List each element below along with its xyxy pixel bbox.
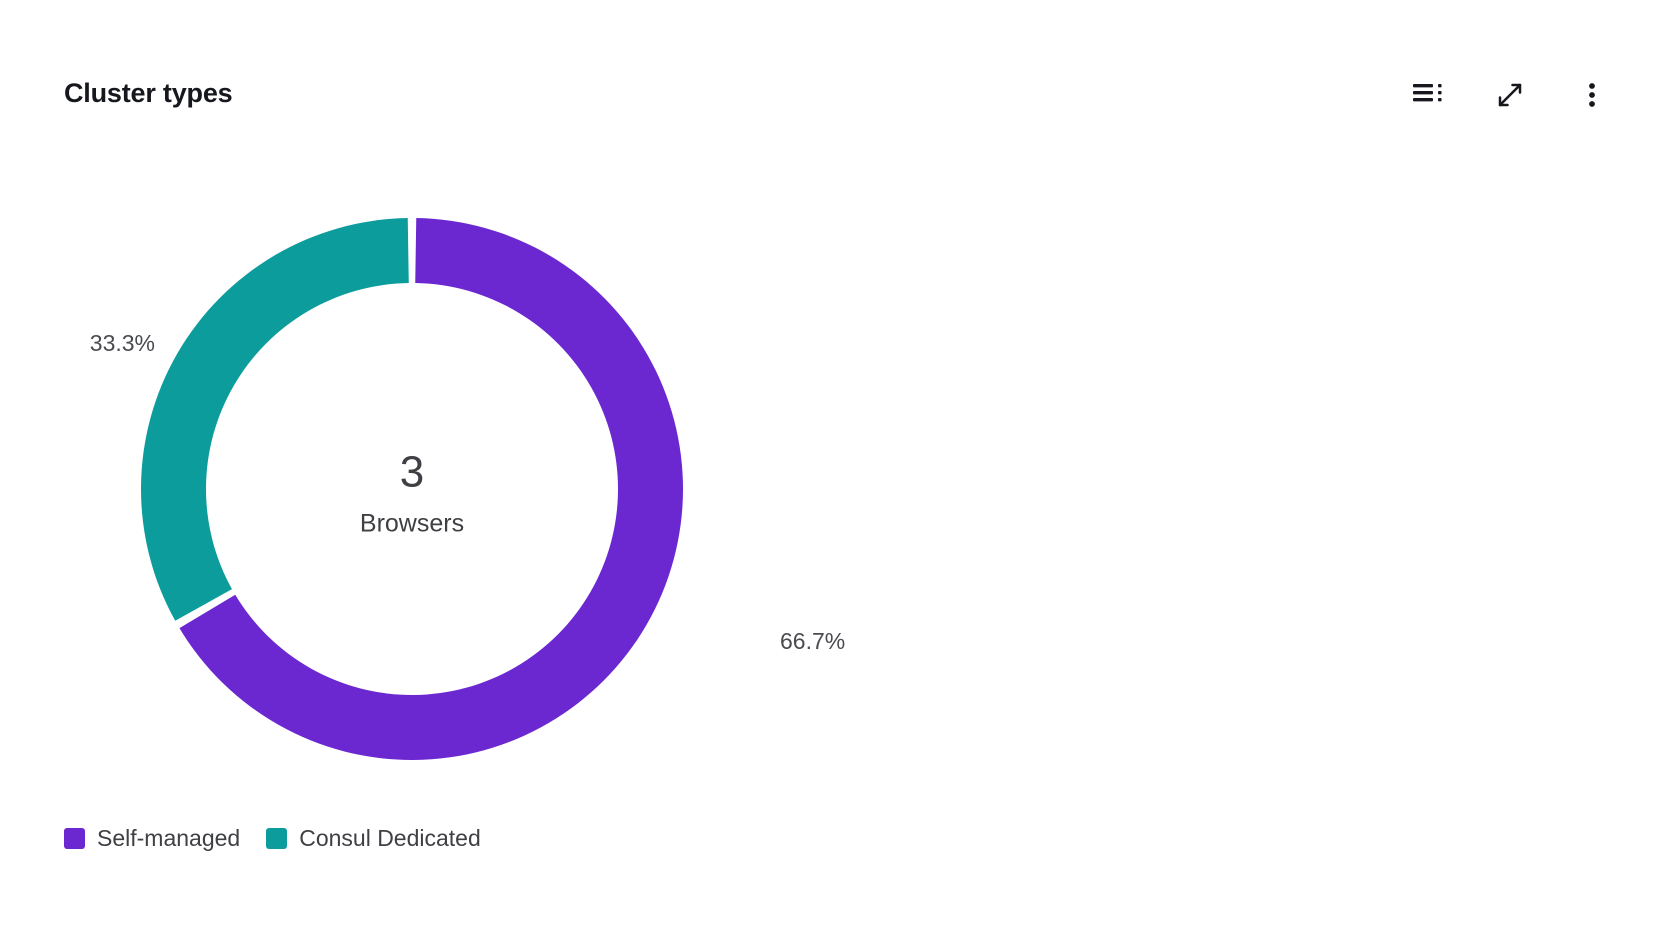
header-actions: [1406, 74, 1614, 118]
donut-percent-label-consul-dedicated: 33.3%: [90, 330, 155, 356]
chart-legend: Self-managed Consul Dedicated: [64, 827, 481, 850]
legend-item-self-managed[interactable]: Self-managed: [64, 827, 240, 850]
legend-item-consul-dedicated[interactable]: Consul Dedicated: [266, 827, 481, 850]
legend-label-self-managed: Self-managed: [97, 827, 240, 850]
page-title: Cluster types: [64, 80, 232, 107]
expand-icon: [1495, 80, 1525, 113]
donut-percent-label-self-managed: 66.7%: [780, 628, 845, 654]
legend-swatch-self-managed: [64, 828, 85, 849]
donut-slice-consul-dedicated[interactable]: [141, 218, 409, 621]
legend-label-consul-dedicated: Consul Dedicated: [299, 827, 481, 850]
more-options-button[interactable]: [1570, 74, 1614, 118]
donut-slices: [141, 218, 683, 760]
list-icon: [1413, 82, 1443, 111]
toggle-legend-list-button[interactable]: [1406, 74, 1450, 118]
card-header: Cluster types: [0, 0, 1672, 160]
expand-button[interactable]: [1488, 74, 1532, 118]
cluster-types-chart-card: Cluster types: [0, 0, 1672, 928]
more-options-icon: [1579, 81, 1605, 112]
legend-swatch-consul-dedicated: [266, 828, 287, 849]
donut-center-label: Browsers: [360, 510, 464, 538]
donut-center-value: 3: [400, 448, 424, 497]
